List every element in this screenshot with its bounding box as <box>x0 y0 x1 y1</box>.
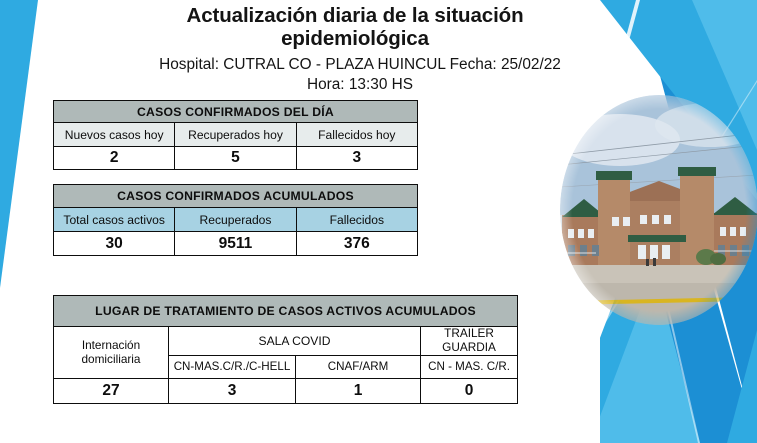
table-daily-col-deceased: Fallecidos hoy <box>296 123 417 147</box>
table-places-value-trailer: 0 <box>421 378 518 403</box>
table-row: CASOS CONFIRMADOS DEL DÍA <box>54 101 418 123</box>
table-accum-col-recovered: Recuperados <box>175 208 296 232</box>
table-places-value-sala-1: 3 <box>169 378 296 403</box>
table-treatment-places: LUGAR DE TRATAMIENTO DE CASOS ACTIVOS AC… <box>53 295 518 404</box>
table-places-sub-sala-2: CNAF/ARM <box>296 355 421 378</box>
table-places-sub-sala-1: CN-MAS.C/R./C-HELL <box>169 355 296 378</box>
page-title: Actualización diaria de la situación epi… <box>140 4 570 51</box>
table-accum-value-deceased: 376 <box>296 232 417 256</box>
table-accum-col-active: Total casos activos <box>54 208 175 232</box>
table-daily-col-new: Nuevos casos hoy <box>54 123 175 147</box>
table-accum-value-active: 30 <box>54 232 175 256</box>
slide-canvas: Actualización diaria de la situación epi… <box>0 0 757 443</box>
table-places-value-sala-2: 1 <box>296 378 421 403</box>
table-row: Nuevos casos hoy Recuperados hoy Falleci… <box>54 123 418 147</box>
table-daily-value-deceased: 3 <box>296 147 417 170</box>
bg-shape-right-7 <box>727 330 757 443</box>
table-places-group-trailer-line2: GUARDIA <box>423 341 515 355</box>
table-places-group-trailer-line1: TRAILER <box>423 327 515 341</box>
table-daily-title: CASOS CONFIRMADOS DEL DÍA <box>54 101 418 123</box>
hospital-photo-illustration <box>560 95 757 325</box>
hospital-photo <box>560 95 757 325</box>
table-daily-value-recovered: 5 <box>175 147 296 170</box>
table-row: LUGAR DE TRATAMIENTO DE CASOS ACTIVOS AC… <box>54 296 518 327</box>
page-title-line2: epidemiológica <box>140 27 570 50</box>
table-row: Internación domiciliaria SALA COVID TRAI… <box>54 327 518 356</box>
page-title-line1: Actualización diaria de la situación <box>140 4 570 27</box>
table-places-group-trailer: TRAILER GUARDIA <box>421 327 518 356</box>
table-row: Total casos activos Recuperados Fallecid… <box>54 208 418 232</box>
table-daily-col-recovered: Recuperados hoy <box>175 123 296 147</box>
table-daily-confirmed-cases: CASOS CONFIRMADOS DEL DÍA Nuevos casos h… <box>53 100 418 170</box>
table-accum-title: CASOS CONFIRMADOS ACUMULADOS <box>54 185 418 208</box>
table-places-col-home: Internación domiciliaria <box>54 327 169 379</box>
table-accum-col-deceased: Fallecidos <box>296 208 417 232</box>
table-row: 27 3 1 0 <box>54 378 518 403</box>
page-subtitle-time: Hora: 13:30 HS <box>130 75 590 95</box>
table-places-value-home: 27 <box>54 378 169 403</box>
table-accum-value-recovered: 9511 <box>175 232 296 256</box>
table-accumulated-confirmed-cases: CASOS CONFIRMADOS ACUMULADOS Total casos… <box>53 184 418 256</box>
table-row: 30 9511 376 <box>54 232 418 256</box>
page-subtitle-hospital: Hospital: CUTRAL CO - PLAZA HUINCUL Fech… <box>130 55 590 75</box>
table-row: 2 5 3 <box>54 147 418 170</box>
table-daily-value-new: 2 <box>54 147 175 170</box>
table-places-group-sala-covid: SALA COVID <box>169 327 421 356</box>
table-places-sub-trailer: CN - MAS. C/R. <box>421 355 518 378</box>
table-row: CASOS CONFIRMADOS ACUMULADOS <box>54 185 418 208</box>
table-places-title: LUGAR DE TRATAMIENTO DE CASOS ACTIVOS AC… <box>54 296 518 327</box>
corner-triangle-left <box>0 0 38 288</box>
